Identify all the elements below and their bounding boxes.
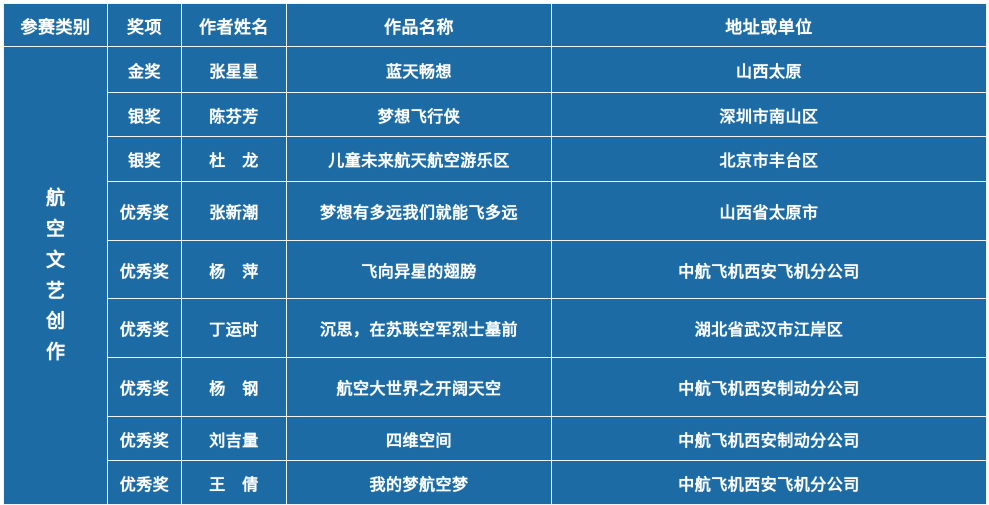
cell-category-merged: 航空文艺创作 [4,47,108,505]
award-results-table: 参赛类别 奖项 作者姓名 作品名称 地址或单位 航空文艺创作金奖张星星蓝天畅想山… [3,3,987,505]
cell-award: 优秀奖 [108,241,182,299]
cell-address: 北京市丰台区 [552,137,987,182]
table-row: 优秀奖丁运时沉思，在苏联空军烈士墓前湖北省武汉市江岸区 [4,299,987,358]
cell-award: 优秀奖 [108,182,182,241]
page-root: 参赛类别 奖项 作者姓名 作品名称 地址或单位 航空文艺创作金奖张星星蓝天畅想山… [0,0,989,497]
cell-address: 中航飞机西安制动分公司 [552,358,987,417]
cell-author: 丁运时 [182,299,287,358]
category-char: 创 [46,306,65,337]
cell-title: 飞向异星的翅膀 [287,241,552,299]
cell-address: 山西省太原市 [552,182,987,241]
category-char: 文 [46,245,65,276]
table-row: 银奖杜 龙儿童未来航天航空游乐区北京市丰台区 [4,137,987,182]
table-row: 航空文艺创作金奖张星星蓝天畅想山西太原 [4,47,987,93]
cell-author: 杨 钢 [182,358,287,417]
cell-award: 银奖 [108,93,182,137]
cell-award: 优秀奖 [108,461,182,505]
cell-award: 金奖 [108,47,182,93]
category-char: 艺 [46,276,65,307]
table-row: 优秀奖王 倩我的梦航空梦中航飞机西安飞机分公司 [4,461,987,505]
cell-award: 优秀奖 [108,417,182,461]
cell-address: 中航飞机西安飞机分公司 [552,241,987,299]
column-header-address: 地址或单位 [552,4,987,47]
category-char: 作 [46,337,65,368]
cell-title: 我的梦航空梦 [287,461,552,505]
cell-author: 张新潮 [182,182,287,241]
table-row: 优秀奖杨 萍飞向异星的翅膀中航飞机西安飞机分公司 [4,241,987,299]
table-body: 航空文艺创作金奖张星星蓝天畅想山西太原银奖陈芬芳梦想飞行侠深圳市南山区银奖杜 龙… [4,47,987,505]
cell-title: 四维空间 [287,417,552,461]
cell-author: 杨 萍 [182,241,287,299]
table-header-row: 参赛类别 奖项 作者姓名 作品名称 地址或单位 [4,4,987,47]
cell-award: 优秀奖 [108,358,182,417]
category-vertical-text: 航空文艺创作 [46,183,65,368]
cell-title: 儿童未来航天航空游乐区 [287,137,552,182]
cell-award: 优秀奖 [108,299,182,358]
cell-author: 王 倩 [182,461,287,505]
cell-author: 杜 龙 [182,137,287,182]
table-row: 优秀奖杨 钢航空大世界之开阔天空中航飞机西安制动分公司 [4,358,987,417]
category-char: 航 [46,183,65,214]
column-header-author: 作者姓名 [182,4,287,47]
cell-author: 张星星 [182,47,287,93]
cell-author: 陈芬芳 [182,93,287,137]
table-row: 优秀奖刘吉量四维空间中航飞机西安制动分公司 [4,417,987,461]
table-header: 参赛类别 奖项 作者姓名 作品名称 地址或单位 [4,4,987,47]
cell-address: 深圳市南山区 [552,93,987,137]
table-row: 银奖陈芬芳梦想飞行侠深圳市南山区 [4,93,987,137]
cell-title: 梦想有多远我们就能飞多远 [287,182,552,241]
category-char: 空 [46,214,65,245]
column-header-category: 参赛类别 [4,4,108,47]
cell-title: 梦想飞行侠 [287,93,552,137]
cell-title: 蓝天畅想 [287,47,552,93]
cell-address: 中航飞机西安飞机分公司 [552,461,987,505]
cell-address: 山西太原 [552,47,987,93]
cell-title: 航空大世界之开阔天空 [287,358,552,417]
table-row: 优秀奖张新潮梦想有多远我们就能飞多远山西省太原市 [4,182,987,241]
cell-address: 湖北省武汉市江岸区 [552,299,987,358]
cell-author: 刘吉量 [182,417,287,461]
column-header-award: 奖项 [108,4,182,47]
cell-award: 银奖 [108,137,182,182]
column-header-title: 作品名称 [287,4,552,47]
cell-address: 中航飞机西安制动分公司 [552,417,987,461]
cell-title: 沉思，在苏联空军烈士墓前 [287,299,552,358]
